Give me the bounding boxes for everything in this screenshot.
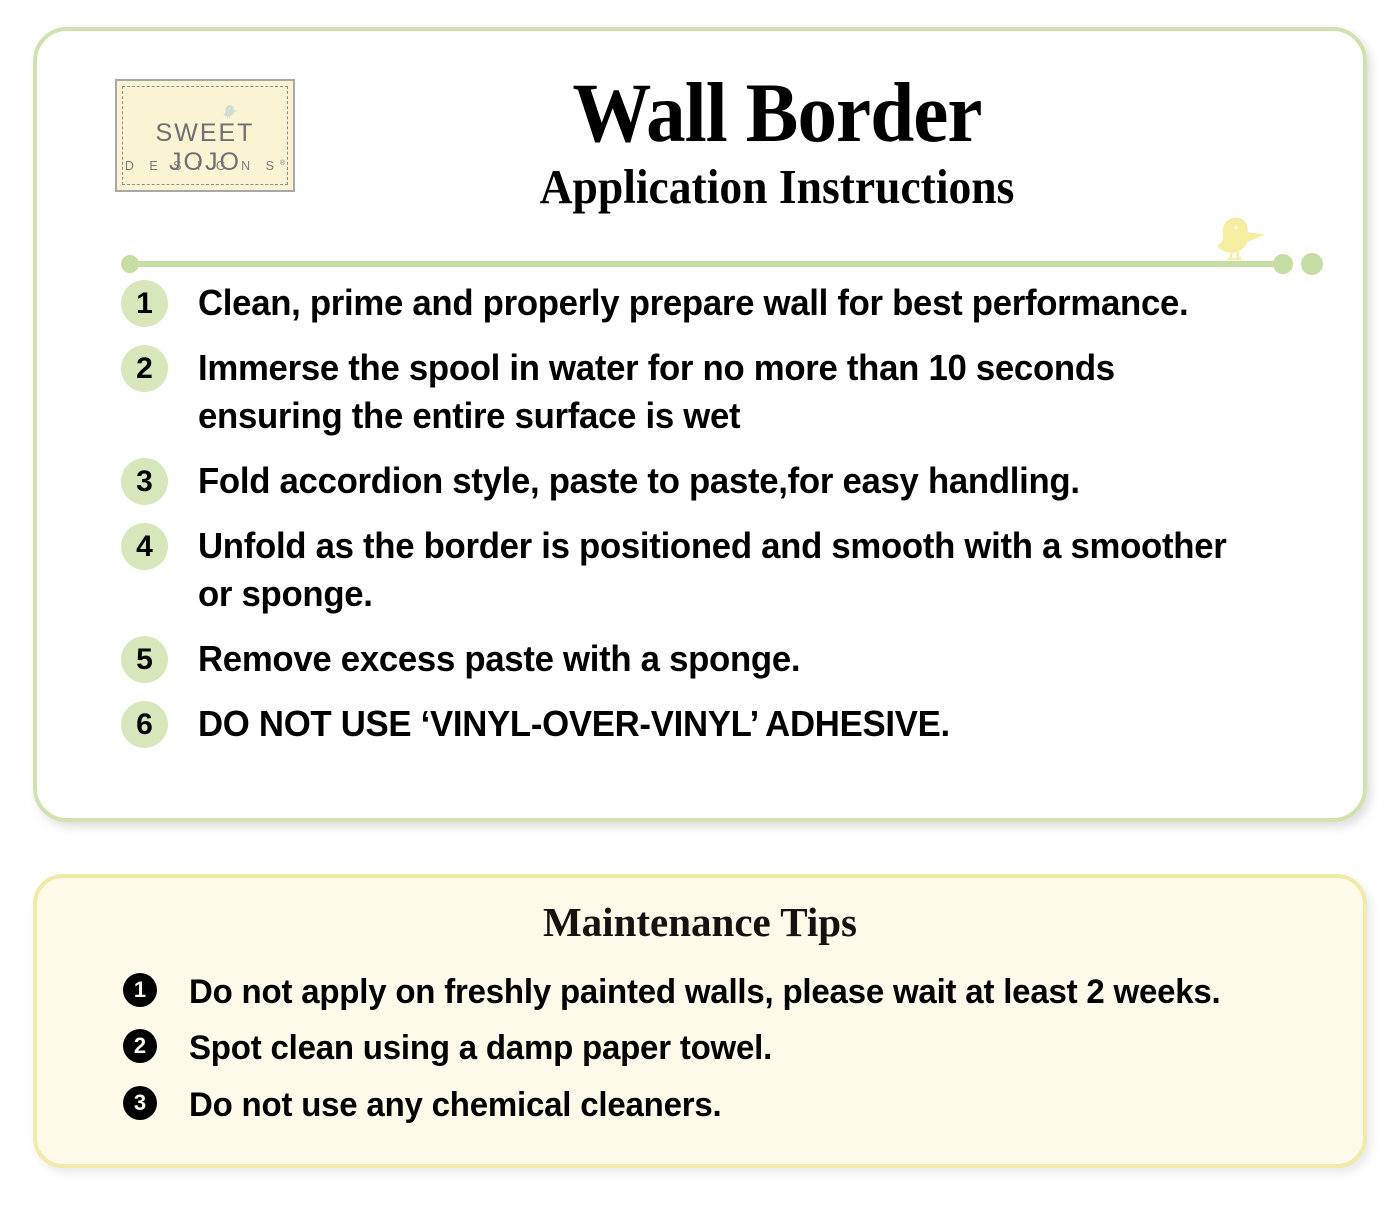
list-item: 3 Fold accordion style, paste to paste,f… [121, 457, 1323, 505]
instructions-card: SWEET JOJO D E S I G N S® Wall Border Ap… [33, 27, 1367, 822]
list-item: 6 DO NOT USE ‘VINYL-OVER-VINYL’ ADHESIVE… [121, 700, 1323, 748]
step-text: Remove excess paste with a sponge. [198, 635, 800, 683]
tip-number-badge: 3 [123, 1086, 157, 1120]
divider [89, 199, 1329, 279]
divider-dot-right-outer [1301, 253, 1323, 275]
maintenance-tips-title: Maintenance Tips [37, 898, 1363, 946]
step-text: Clean, prime and properly prepare wall f… [198, 279, 1188, 327]
tip-number-badge: 1 [123, 973, 157, 1007]
tip-number-badge: 2 [123, 1029, 157, 1063]
brand-logo: SWEET JOJO D E S I G N S® [115, 79, 295, 192]
divider-line [129, 261, 1281, 267]
list-item: 2 Immerse the spool in water for no more… [121, 344, 1323, 440]
maintenance-tips-list: 1 Do not apply on freshly painted walls,… [37, 968, 1363, 1129]
step-text: Unfold as the border is positioned and s… [198, 522, 1226, 618]
step-text: DO NOT USE ‘VINYL-OVER-VINYL’ ADHESIVE. [198, 700, 950, 748]
tip-text: Do not use any chemical cleaners. [189, 1081, 721, 1129]
list-item: 2 Spot clean using a damp paper towel. [123, 1024, 1363, 1072]
list-item: 3 Do not use any chemical cleaners. [123, 1081, 1363, 1129]
list-item: 1 Clean, prime and properly prepare wall… [121, 279, 1323, 327]
bird-icon [1209, 209, 1267, 265]
tip-text: Do not apply on freshly painted walls, p… [189, 968, 1221, 1016]
logo-tagline: D E S I G N S® [123, 159, 287, 173]
step-number-badge: 6 [121, 701, 168, 748]
divider-dot-left [121, 255, 139, 273]
steps-list: 1 Clean, prime and properly prepare wall… [121, 279, 1323, 765]
divider-dot-right-inner [1273, 254, 1293, 274]
step-text: Fold accordion style, paste to paste,for… [198, 457, 1080, 505]
page-title-block: Wall Border Application Instructions [337, 73, 1217, 212]
registered-mark: ® [280, 160, 285, 167]
step-number-badge: 5 [121, 636, 168, 683]
list-item: 4 Unfold as the border is positioned and… [121, 522, 1323, 618]
maintenance-tips-card: Maintenance Tips 1 Do not apply on fresh… [33, 874, 1367, 1168]
step-number-badge: 1 [121, 280, 168, 327]
logo-tagline-text: D E S I G N S [125, 159, 280, 173]
list-item: 5 Remove excess paste with a sponge. [121, 635, 1323, 683]
step-number-badge: 3 [121, 458, 168, 505]
tip-text: Spot clean using a damp paper towel. [189, 1024, 772, 1072]
logo-inner-frame: SWEET JOJO D E S I G N S® [122, 86, 288, 185]
step-number-badge: 2 [121, 345, 168, 392]
list-item: 1 Do not apply on freshly painted walls,… [123, 968, 1363, 1016]
header: SWEET JOJO D E S I G N S® Wall Border Ap… [37, 31, 1363, 221]
step-number-badge: 4 [121, 523, 168, 570]
step-text: Immerse the spool in water for no more t… [198, 344, 1115, 440]
page-title: Wall Border [368, 73, 1186, 155]
instruction-sheet: SWEET JOJO D E S I G N S® Wall Border Ap… [0, 0, 1400, 1211]
